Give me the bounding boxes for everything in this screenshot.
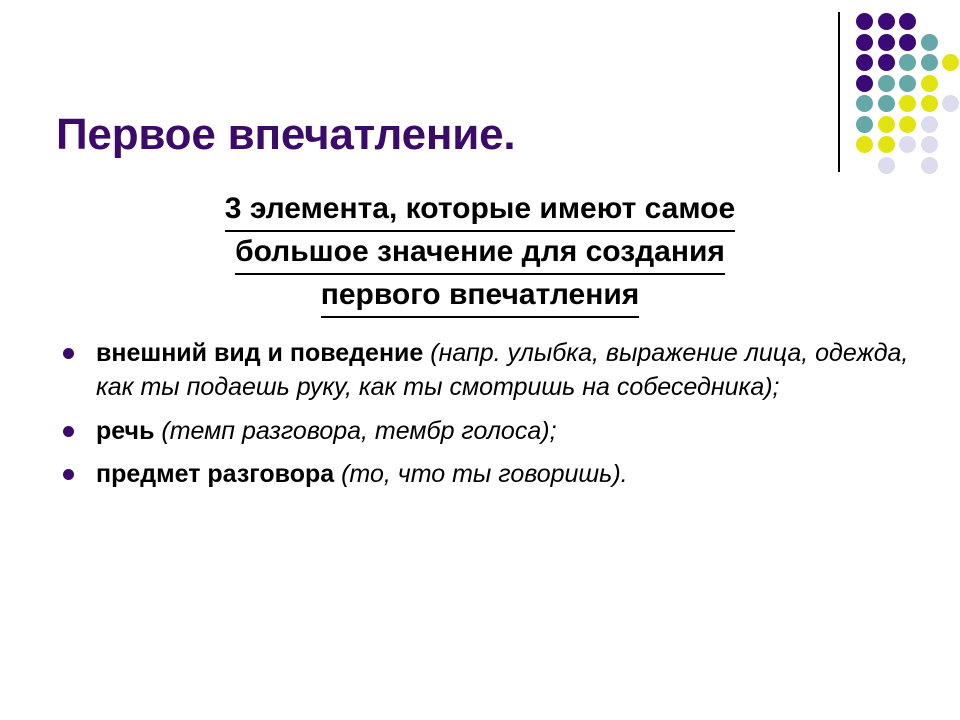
logo-dot <box>921 75 938 92</box>
vertical-divider-line <box>838 12 840 172</box>
list-item-lead: речь <box>96 417 154 445</box>
logo-dot <box>856 13 873 30</box>
logo-dot <box>942 95 959 112</box>
logo-dot <box>942 54 959 71</box>
logo-dot <box>878 13 895 30</box>
logo-dot <box>899 13 916 30</box>
subheading: 3 элемента, которые имеют самое большое … <box>80 189 880 318</box>
logo-dot <box>899 116 916 133</box>
logo-dot <box>899 95 916 112</box>
logo-dot <box>878 95 895 112</box>
logo-dot <box>856 34 873 51</box>
bullet-dot-icon <box>63 426 74 437</box>
logo-dot <box>921 116 938 133</box>
list-item-detail: (темп разговора, тембр голоса); <box>154 417 556 445</box>
logo-dot <box>856 136 873 153</box>
logo-dot <box>878 54 895 71</box>
logo-dot <box>878 34 895 51</box>
logo-dot <box>878 157 895 174</box>
decorative-dot-grid <box>826 0 960 185</box>
bullet-dot-icon <box>63 469 74 480</box>
page-title: Первое впечатление. <box>56 111 816 159</box>
bullet-dot-icon <box>63 348 74 359</box>
subheading-line-1-text: 3 элемента, которые имеют самое <box>225 189 735 232</box>
logo-dot <box>899 75 916 92</box>
list-item: предмет разговора (то, что ты говоришь). <box>54 457 920 491</box>
logo-dot <box>856 54 873 71</box>
logo-dot <box>878 75 895 92</box>
subheading-line-1: 3 элемента, которые имеют самое <box>80 189 880 232</box>
logo-dot <box>856 116 873 133</box>
logo-dot <box>878 116 895 133</box>
logo-dot <box>899 54 916 71</box>
subheading-line-2: большое значение для создания <box>80 232 880 275</box>
logo-dot <box>856 95 873 112</box>
slide-canvas: Первое впечатление. 3 элемента, которые … <box>0 0 960 720</box>
list-item: речь (темп разговора, тембр голоса); <box>54 414 920 448</box>
subheading-line-3: первого впечатления <box>80 275 880 318</box>
list-item-lead: внешний вид и поведение <box>96 339 423 367</box>
list-item-lead: предмет разговора <box>96 460 334 488</box>
logo-dot <box>899 34 916 51</box>
logo-dot <box>921 34 938 51</box>
dot-grid-container <box>856 13 960 173</box>
logo-dot <box>921 95 938 112</box>
logo-dot <box>899 136 916 153</box>
bullet-list: внешний вид и поведение (напр. улыбка, в… <box>54 336 920 500</box>
subheading-line-3-text: первого впечатления <box>321 275 640 318</box>
logo-dot <box>921 54 938 71</box>
logo-dot <box>921 136 938 153</box>
list-item: внешний вид и поведение (напр. улыбка, в… <box>54 336 920 405</box>
logo-dot <box>921 157 938 174</box>
subheading-line-2-text: большое значение для создания <box>235 232 725 275</box>
logo-dot <box>856 75 873 92</box>
list-item-detail: (то, что ты говоришь). <box>334 460 627 488</box>
logo-dot <box>878 136 895 153</box>
